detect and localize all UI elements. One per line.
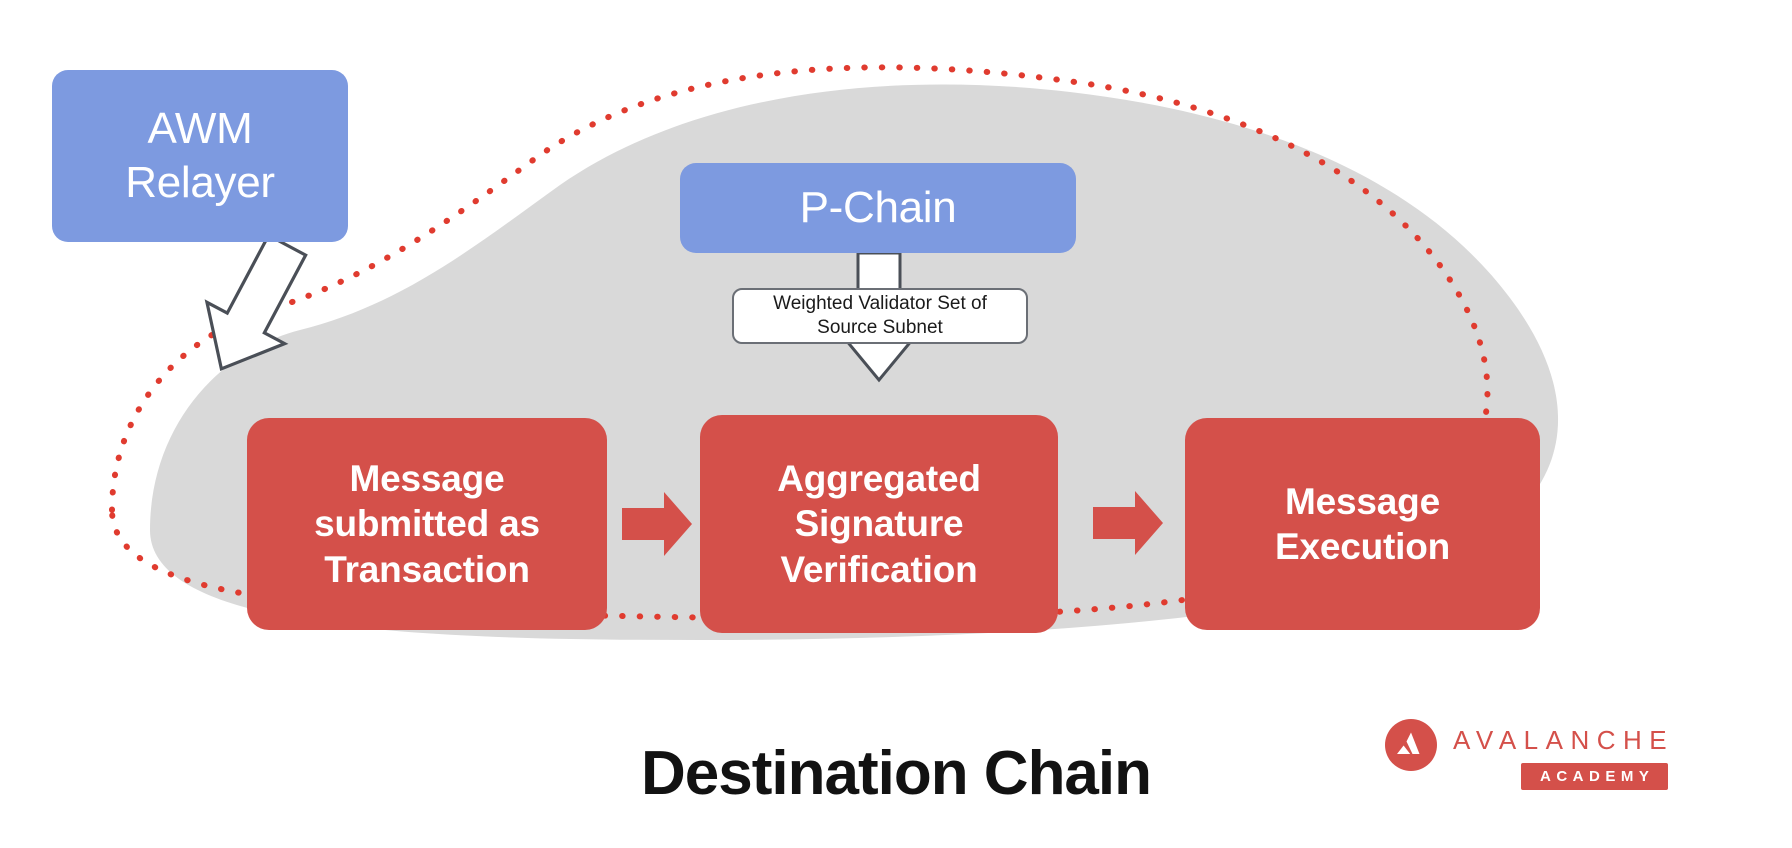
awm-relayer-line2: Relayer — [125, 158, 275, 207]
message-submitted-label: Message submitted as Transaction — [314, 456, 540, 591]
logo-wordmark: AVALANCHE — [1453, 725, 1674, 756]
aggregated-signature-line3: Verification — [780, 549, 977, 590]
message-execution-line2: Execution — [1275, 526, 1450, 567]
node-awm-relayer[interactable]: AWM Relayer — [52, 70, 348, 242]
aggregated-signature-line1: Aggregated — [777, 458, 981, 499]
validator-set-line1: Weighted Validator Set of — [773, 293, 987, 314]
avalanche-mark-icon — [1385, 719, 1437, 771]
node-aggregated-signature[interactable]: Aggregated Signature Verification — [700, 415, 1058, 633]
aggregated-signature-label: Aggregated Signature Verification — [777, 456, 981, 591]
node-p-chain[interactable]: P-Chain — [680, 163, 1076, 253]
validator-set-label: Weighted Validator Set of Source Subnet — [773, 292, 987, 340]
node-message-submitted[interactable]: Message submitted as Transaction — [247, 418, 607, 630]
message-submitted-line3: Transaction — [324, 549, 529, 590]
node-validator-set[interactable]: Weighted Validator Set of Source Subnet — [732, 288, 1028, 344]
validator-set-line2: Source Subnet — [817, 317, 943, 338]
diagram-canvas: AWM Relayer P-Chain Weighted Validator S… — [0, 0, 1792, 848]
avalanche-academy-logo: AVALANCHE ACADEMY — [1385, 711, 1675, 791]
message-execution-label: Message Execution — [1275, 479, 1450, 569]
logo-academy-badge: ACADEMY — [1521, 763, 1668, 790]
message-submitted-line2: submitted as — [314, 503, 540, 544]
aggregated-signature-line2: Signature — [795, 503, 964, 544]
awm-relayer-label: AWM Relayer — [125, 102, 275, 209]
message-submitted-line1: Message — [350, 458, 505, 499]
p-chain-label: P-Chain — [800, 181, 957, 235]
awm-relayer-line1: AWM — [147, 104, 252, 153]
message-execution-line1: Message — [1285, 481, 1440, 522]
node-message-execution[interactable]: Message Execution — [1185, 418, 1540, 630]
